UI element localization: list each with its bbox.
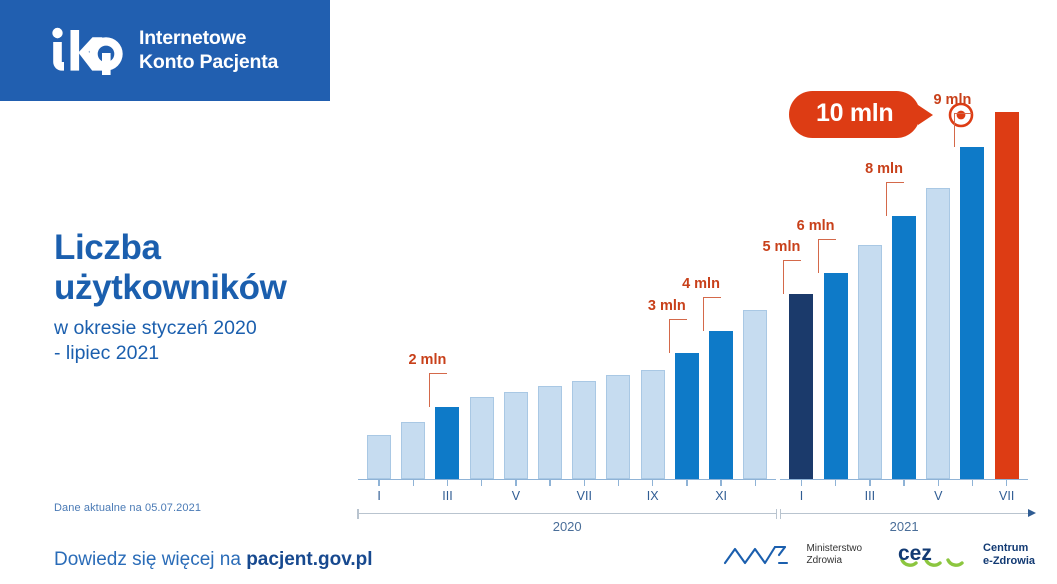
bar-slot (601, 86, 635, 479)
ikp-logo-text: Internetowe Konto Pacjenta (139, 27, 278, 75)
callout-label: 3 mln (648, 298, 686, 314)
ministry-of-health-logo: Ministerstwo Zdrowia (723, 541, 862, 569)
axis-tick-label: III (865, 489, 875, 503)
callout-leader-line (429, 373, 447, 407)
header-band: Internetowe Konto Pacjenta (0, 0, 330, 101)
year-label-2020: 2020 (553, 519, 582, 534)
axis-tick (835, 479, 836, 486)
bar-iv-2020 (470, 397, 494, 479)
bar-viii-2020 (606, 375, 630, 479)
bar-slot (362, 86, 396, 479)
bar-xii-2020 (743, 310, 767, 479)
bar-i-2020 (367, 435, 391, 479)
year-rule-2021 (780, 513, 1027, 514)
callout-label: 8 mln (865, 161, 903, 177)
axis-tick-label: V (512, 489, 520, 503)
axis-tick-label: VII (577, 489, 592, 503)
axis-tick-label: V (934, 489, 942, 503)
bar-slot (499, 86, 533, 479)
bar-slot (853, 86, 887, 479)
axis-tick (618, 479, 619, 486)
bar-slot (465, 86, 499, 479)
callout-leader-line (783, 260, 801, 294)
bar-slot (921, 86, 955, 479)
axis-tick (549, 479, 550, 486)
cez-logo-label: Centrum e-Zdrowia (983, 542, 1035, 568)
axis-tick-label: VII (999, 489, 1014, 503)
footer-cta-link[interactable]: pacjent.gov.pl (246, 549, 372, 570)
bar-slot (738, 86, 772, 479)
year-axis-arrow (1028, 509, 1036, 517)
callout-label: 2 mln (408, 352, 446, 368)
callout-leader-line (886, 182, 904, 216)
footer-logos: Ministerstwo Zdrowia cez Centrum e-Zdrow… (723, 540, 1035, 570)
axis-tick (413, 479, 414, 486)
svg-text:cez: cez (898, 542, 932, 565)
axis-tick (686, 479, 687, 486)
axis-tick-label: III (442, 489, 452, 503)
axis-tick (652, 479, 653, 486)
callout-label: 9 mln (933, 92, 971, 108)
axis-tick (447, 479, 448, 486)
annotation-slot: 5 mln (784, 86, 818, 479)
axis-tick (869, 479, 870, 486)
callout-label: 4 mln (682, 276, 720, 292)
page-title: Liczba użytkowników (54, 228, 286, 309)
year-rule-cap (780, 509, 781, 519)
annotation-slot: 6 mln (819, 86, 853, 479)
year-rule-2020 (358, 513, 776, 514)
callout-leader-line (669, 319, 687, 353)
year-rule-cap (776, 509, 777, 519)
bar-slot (396, 86, 430, 479)
axis-tick-label: I (800, 489, 803, 503)
bar-slot (636, 86, 670, 479)
annotation-slot: 4 mln (704, 86, 738, 479)
callout-label: 6 mln (797, 218, 835, 234)
axis-tick (584, 479, 585, 486)
callout-leader-line (703, 297, 721, 331)
bar-ix-2020 (641, 370, 665, 479)
year-label-2021: 2021 (890, 519, 919, 534)
cez-logo: cez Centrum e-Zdrowia (896, 540, 1035, 570)
bar-slot (567, 86, 601, 479)
axis-tick (903, 479, 904, 486)
year-rule-cap (357, 509, 358, 519)
ministry-logo-label: Ministerstwo Zdrowia (806, 543, 862, 567)
bar-slot (533, 86, 567, 479)
axis-tick (481, 479, 482, 486)
data-currency-note: Dane aktualne na 05.07.2021 (54, 502, 201, 514)
chart-plot-area: 2 mln3 mln4 mln5 mln6 mln8 mln9 mln (352, 86, 1042, 479)
ministry-zigzag-icon (723, 541, 799, 569)
annotation-slot: 9 mln (955, 86, 989, 479)
annotation-slot: 2 mln (430, 86, 464, 479)
axis-tick-label: IX (647, 489, 659, 503)
bar-ii-2020 (401, 422, 425, 479)
footer-cta-prefix: Dowiedz się więcej na (54, 549, 246, 570)
bar-v-2020 (504, 392, 528, 479)
users-growth-bar-chart: 10 mln 2 mln3 mln4 mln5 mln6 mln8 mln9 m… (352, 86, 1042, 526)
axis-tick (801, 479, 802, 486)
chart-axis: IIIIVVIIIXXIIIIIVVII20202021 (352, 479, 1042, 527)
bar-vii-2020 (572, 381, 596, 479)
page-subtitle: w okresie styczeń 2020 - lipiec 2021 (54, 316, 257, 367)
axis-tick-label: XI (715, 489, 727, 503)
axis-tick (755, 479, 756, 486)
callout-leader-line (818, 239, 836, 273)
footer-cta: Dowiedz się więcej na pacjent.gov.pl (54, 549, 373, 571)
axis-tick (972, 479, 973, 486)
ikp-logo: Internetowe Konto Pacjenta (48, 26, 278, 76)
axis-line-2020 (358, 479, 776, 480)
axis-tick (720, 479, 721, 486)
bar-iii-2021 (858, 245, 882, 479)
axis-tick (938, 479, 939, 486)
axis-tick (378, 479, 379, 486)
annotation-slot: 8 mln (887, 86, 921, 479)
callout-label: 5 mln (762, 239, 800, 255)
cez-mark-icon: cez (896, 540, 976, 570)
callout-leader-line (954, 113, 972, 147)
axis-tick (1006, 479, 1007, 486)
bar-vi-2020 (538, 386, 562, 479)
axis-tick-label: I (377, 489, 380, 503)
bar-v-2021 (926, 188, 950, 479)
annotation-slot (990, 86, 1024, 479)
axis-tick (515, 479, 516, 486)
ikp-logo-mark (48, 26, 126, 76)
